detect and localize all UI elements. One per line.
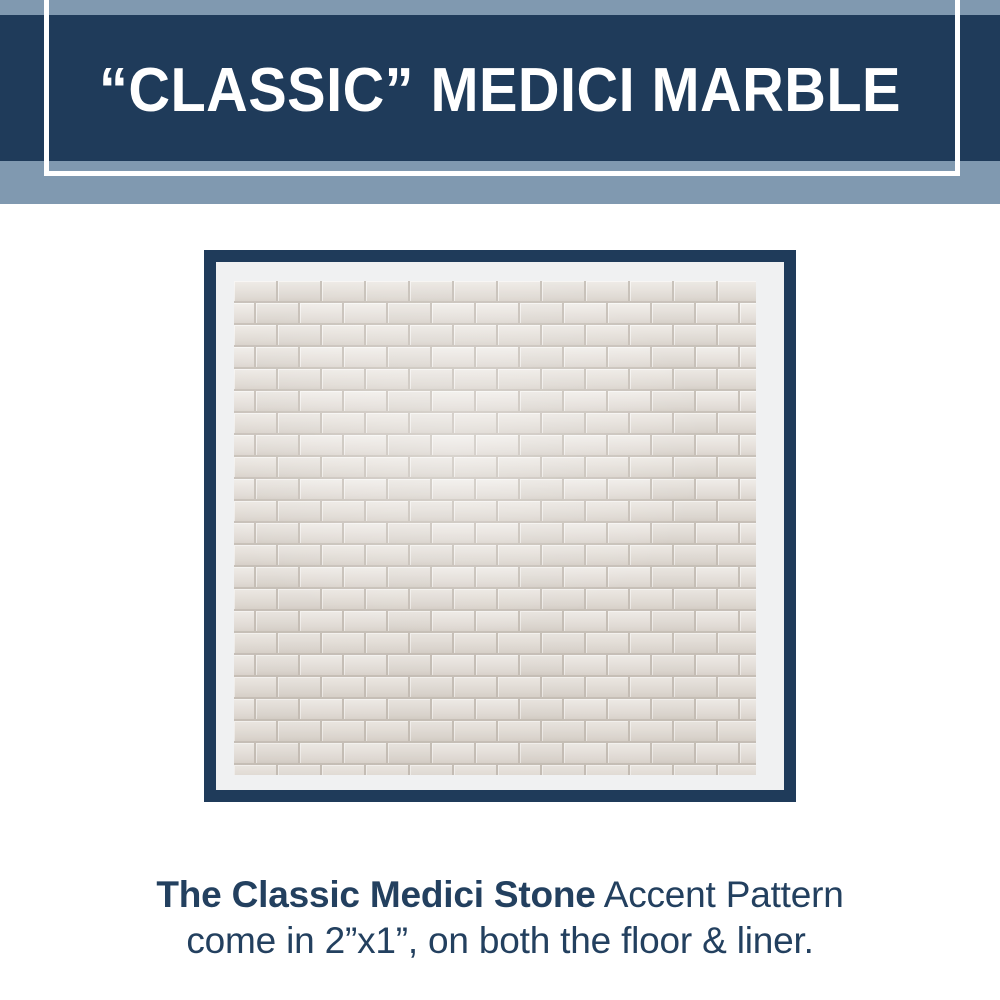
brick-tile: [410, 633, 454, 655]
brick-tile: [740, 479, 756, 501]
brick-tile: [234, 743, 256, 765]
brick-tile: [696, 743, 740, 765]
brick-tile: [740, 523, 756, 545]
brick-tile: [498, 545, 542, 567]
brick-tile: [718, 545, 756, 567]
brick-tile: [300, 479, 344, 501]
brick-tile: [454, 721, 498, 743]
brick-tile: [300, 523, 344, 545]
brick-tile: [564, 435, 608, 457]
brick-tile: [410, 545, 454, 567]
brick-tile: [388, 303, 432, 325]
brick-tile: [608, 655, 652, 677]
brick-tile: [454, 457, 498, 479]
brick-tile: [300, 391, 344, 413]
brick-tile: [740, 743, 756, 765]
brick-tile: [388, 567, 432, 589]
brick-tile: [564, 303, 608, 325]
brick-tile: [278, 369, 322, 391]
brick-tile: [278, 545, 322, 567]
brick-tile: [234, 391, 256, 413]
brick-tile: [432, 567, 476, 589]
brick-tile: [718, 633, 756, 655]
brick-tile: [366, 413, 410, 435]
brick-row: [234, 435, 756, 457]
brick-tile: [740, 567, 756, 589]
brick-tile: [586, 589, 630, 611]
brick-tile: [432, 523, 476, 545]
brick-tile: [696, 435, 740, 457]
brick-tile: [630, 765, 674, 775]
brick-tile: [366, 545, 410, 567]
brick-tile: [432, 611, 476, 633]
brick-tile: [652, 611, 696, 633]
brick-tile: [256, 567, 300, 589]
brick-tile: [740, 699, 756, 721]
brick-tile: [542, 281, 586, 303]
brick-tile: [740, 655, 756, 677]
brick-tile: [234, 413, 278, 435]
brick-tile: [256, 611, 300, 633]
brick-tile: [234, 677, 278, 699]
brick-tile: [630, 325, 674, 347]
brick-tile: [696, 479, 740, 501]
brick-tile: [234, 347, 256, 369]
brick-tile: [542, 545, 586, 567]
brick-tile: [432, 391, 476, 413]
brick-tile: [718, 457, 756, 479]
caption-line-1-bold: The Classic Medici Stone: [156, 874, 595, 915]
brick-tile: [278, 413, 322, 435]
brick-tile: [564, 743, 608, 765]
brick-tile: [278, 677, 322, 699]
brick-tile: [476, 479, 520, 501]
brick-row: [234, 589, 756, 611]
brick-tile: [454, 545, 498, 567]
brick-tile: [234, 611, 256, 633]
caption-line-1: The Classic Medici Stone Accent Pattern: [60, 872, 940, 918]
brick-tile: [366, 633, 410, 655]
brick-tile: [674, 633, 718, 655]
brick-tile: [278, 281, 322, 303]
brick-tile: [674, 501, 718, 523]
brick-tile: [608, 699, 652, 721]
product-caption: The Classic Medici Stone Accent Pattern …: [60, 872, 940, 964]
brick-tile: [322, 281, 366, 303]
brick-tile: [718, 677, 756, 699]
brick-row: [234, 391, 756, 413]
brick-tile: [344, 567, 388, 589]
brick-tile: [234, 765, 278, 775]
brick-tile: [278, 589, 322, 611]
brick-tile: [652, 567, 696, 589]
brick-tile: [608, 479, 652, 501]
brick-tile: [234, 501, 278, 523]
brick-tile: [718, 721, 756, 743]
brick-tile: [608, 523, 652, 545]
brick-tile: [410, 281, 454, 303]
brick-tile: [322, 325, 366, 347]
brick-row: [234, 457, 756, 479]
brick-tile: [498, 765, 542, 775]
caption-line-2: come in 2”x1”, on both the floor & liner…: [60, 918, 940, 964]
brick-tile: [586, 765, 630, 775]
brick-tile: [388, 347, 432, 369]
brick-tile: [476, 391, 520, 413]
brick-tile: [652, 391, 696, 413]
brick-tile: [696, 567, 740, 589]
brick-tile: [630, 545, 674, 567]
page-title: “CLASSIC” MEDICI MARBLE: [91, 48, 909, 134]
brick-tile: [454, 765, 498, 775]
brick-tile: [674, 765, 718, 775]
brick-row: [234, 655, 756, 677]
brick-tile: [366, 721, 410, 743]
brick-tile: [256, 479, 300, 501]
brick-tile: [652, 655, 696, 677]
brick-row: [234, 721, 756, 743]
brick-tile: [432, 303, 476, 325]
brick-tile: [498, 633, 542, 655]
brick-tile: [586, 369, 630, 391]
brick-tile: [278, 457, 322, 479]
brick-tile: [520, 303, 564, 325]
brick-tile: [718, 589, 756, 611]
brick-tile: [388, 743, 432, 765]
brick-tile: [476, 743, 520, 765]
brick-tile: [696, 655, 740, 677]
brick-tile: [322, 501, 366, 523]
brick-tile: [696, 347, 740, 369]
brick-tile: [674, 281, 718, 303]
brick-tile: [234, 369, 278, 391]
brick-tile: [256, 523, 300, 545]
brick-tile: [498, 281, 542, 303]
brick-tile: [278, 501, 322, 523]
brick-tile: [630, 633, 674, 655]
product-image-frame: [204, 250, 796, 802]
brick-tile: [476, 655, 520, 677]
brick-tile: [718, 413, 756, 435]
brick-tile: [344, 699, 388, 721]
brick-tile: [234, 479, 256, 501]
brick-row: [234, 303, 756, 325]
brick-tile: [520, 611, 564, 633]
brick-tile: [234, 721, 278, 743]
brick-tile: [432, 435, 476, 457]
brick-tile: [630, 369, 674, 391]
brick-tile: [476, 347, 520, 369]
brick-tile: [564, 479, 608, 501]
brick-tile: [586, 281, 630, 303]
brick-tile: [586, 721, 630, 743]
brick-tile: [718, 281, 756, 303]
brick-tile: [410, 677, 454, 699]
brick-tile: [564, 567, 608, 589]
brick-tile: [520, 347, 564, 369]
brick-tile: [674, 677, 718, 699]
brick-tile: [300, 611, 344, 633]
brick-tile: [542, 721, 586, 743]
brick-row: [234, 369, 756, 391]
brick-tile: [322, 545, 366, 567]
brick-tile: [498, 721, 542, 743]
brick-tile: [256, 391, 300, 413]
brick-tile: [454, 413, 498, 435]
brick-row: [234, 545, 756, 567]
brick-tile: [278, 721, 322, 743]
brick-tile: [740, 435, 756, 457]
brick-tile: [300, 567, 344, 589]
brick-tile: [652, 743, 696, 765]
brick-tile: [476, 699, 520, 721]
brick-tile: [322, 633, 366, 655]
brick-tile: [542, 325, 586, 347]
brick-tile: [300, 303, 344, 325]
brick-row: [234, 677, 756, 699]
brick-tile: [674, 325, 718, 347]
brick-tile: [630, 457, 674, 479]
brick-tile: [586, 457, 630, 479]
brick-tile: [410, 765, 454, 775]
brick-tile: [344, 611, 388, 633]
brick-tile: [234, 655, 256, 677]
brick-tile: [652, 435, 696, 457]
brick-tile: [718, 369, 756, 391]
brick-tile: [696, 391, 740, 413]
brick-tile: [454, 633, 498, 655]
brick-tile: [542, 589, 586, 611]
brick-tile: [322, 589, 366, 611]
brick-tile: [344, 655, 388, 677]
brick-tile: [630, 413, 674, 435]
brick-tile: [630, 721, 674, 743]
brick-tile: [256, 743, 300, 765]
brick-tile: [410, 501, 454, 523]
slide-root: “CLASSIC” MEDICI MARBLE The Classic Medi…: [0, 0, 1000, 1000]
brick-tile: [696, 699, 740, 721]
brick-tile: [674, 457, 718, 479]
brick-tile: [608, 347, 652, 369]
brick-tile: [630, 589, 674, 611]
brick-tile: [234, 523, 256, 545]
brick-tile: [476, 567, 520, 589]
brick-tile: [542, 677, 586, 699]
brick-tile: [476, 435, 520, 457]
brick-row: [234, 611, 756, 633]
brick-tile: [520, 743, 564, 765]
brick-row: [234, 743, 756, 765]
brick-tile: [674, 369, 718, 391]
brick-tile: [344, 479, 388, 501]
brick-tile: [432, 655, 476, 677]
brick-tile: [256, 303, 300, 325]
brick-tile: [366, 325, 410, 347]
brick-tile: [256, 435, 300, 457]
brick-tile: [608, 567, 652, 589]
brick-tile: [630, 281, 674, 303]
brick-tile: [234, 567, 256, 589]
brick-tile: [586, 677, 630, 699]
brick-tile: [630, 677, 674, 699]
brick-row: [234, 699, 756, 721]
brick-tile: [476, 303, 520, 325]
brick-tile: [300, 347, 344, 369]
brick-tile: [432, 699, 476, 721]
brick-tile: [234, 699, 256, 721]
brick-row: [234, 523, 756, 545]
brick-tile: [476, 523, 520, 545]
brick-tile: [454, 589, 498, 611]
brick-tile: [520, 391, 564, 413]
brick-tile: [718, 765, 756, 775]
brick-row: [234, 633, 756, 655]
brick-tile: [410, 413, 454, 435]
brick-tile: [520, 435, 564, 457]
brick-tile: [432, 347, 476, 369]
brick-tile: [608, 435, 652, 457]
brick-tile: [322, 677, 366, 699]
brick-tile: [234, 281, 278, 303]
brick-tile: [344, 435, 388, 457]
brick-tile: [454, 677, 498, 699]
brick-tile: [520, 479, 564, 501]
brick-tile: [300, 743, 344, 765]
brick-tile: [608, 391, 652, 413]
brick-tile: [718, 325, 756, 347]
brick-tile: [696, 523, 740, 545]
brick-tile: [454, 369, 498, 391]
brick-tile: [366, 369, 410, 391]
brick-tile: [234, 457, 278, 479]
brick-tile: [498, 369, 542, 391]
brick-tile: [740, 391, 756, 413]
tile-pattern-swatch: [234, 281, 756, 775]
brick-tile: [366, 765, 410, 775]
brick-tile: [652, 303, 696, 325]
brick-tile: [322, 457, 366, 479]
brick-tile: [322, 413, 366, 435]
brick-tile: [344, 347, 388, 369]
brick-row: [234, 325, 756, 347]
brick-tile: [542, 501, 586, 523]
brick-tile: [564, 391, 608, 413]
brick-tile: [740, 611, 756, 633]
brick-tile: [542, 633, 586, 655]
brick-row: [234, 765, 756, 775]
brick-tile: [498, 325, 542, 347]
brick-tile: [432, 479, 476, 501]
brick-tile: [586, 325, 630, 347]
brick-tile: [388, 391, 432, 413]
brick-tile: [410, 457, 454, 479]
brick-tile: [674, 721, 718, 743]
brick-tile: [256, 699, 300, 721]
brick-row: [234, 501, 756, 523]
brick-tile: [454, 281, 498, 303]
brick-tile: [234, 325, 278, 347]
brick-tile: [388, 479, 432, 501]
brick-tile: [542, 413, 586, 435]
brick-tile: [674, 589, 718, 611]
brick-tile: [366, 677, 410, 699]
brick-row: [234, 567, 756, 589]
brick-tile: [388, 655, 432, 677]
brick-row: [234, 413, 756, 435]
brick-tile: [498, 589, 542, 611]
brick-tile: [498, 677, 542, 699]
brick-tile: [454, 501, 498, 523]
brick-tile: [388, 523, 432, 545]
brick-tile: [344, 523, 388, 545]
brick-tile: [410, 589, 454, 611]
brick-tile: [652, 523, 696, 545]
brick-tile: [498, 501, 542, 523]
brick-tile: [718, 501, 756, 523]
brick-tile: [366, 501, 410, 523]
brick-tile: [454, 325, 498, 347]
brick-tile: [300, 655, 344, 677]
brick-tile: [564, 655, 608, 677]
brick-row: [234, 479, 756, 501]
brick-tile: [608, 611, 652, 633]
brick-tile: [234, 589, 278, 611]
brick-tile: [542, 369, 586, 391]
brick-tile: [696, 611, 740, 633]
brick-tile: [564, 611, 608, 633]
brick-tile: [674, 413, 718, 435]
brick-tile: [410, 325, 454, 347]
brick-tile: [278, 765, 322, 775]
brick-tile: [234, 633, 278, 655]
brick-tile: [586, 545, 630, 567]
brick-tile: [586, 413, 630, 435]
brick-tile: [410, 721, 454, 743]
brick-tile: [322, 765, 366, 775]
brick-tile: [542, 765, 586, 775]
brick-row: [234, 347, 756, 369]
product-image-mat: [216, 262, 784, 790]
brick-tile: [608, 303, 652, 325]
brick-tile: [278, 325, 322, 347]
brick-tile: [586, 633, 630, 655]
brick-tile: [344, 391, 388, 413]
brick-tile: [564, 523, 608, 545]
brick-tile: [300, 699, 344, 721]
brick-tile: [520, 655, 564, 677]
brick-tile: [696, 303, 740, 325]
brick-tile: [300, 435, 344, 457]
brick-tile: [388, 435, 432, 457]
brick-tile: [608, 743, 652, 765]
brick-tile: [278, 633, 322, 655]
brick-tile: [366, 589, 410, 611]
brick-tile: [674, 545, 718, 567]
brick-tile: [630, 501, 674, 523]
brick-tile: [388, 611, 432, 633]
header-banner: “CLASSIC” MEDICI MARBLE: [0, 0, 1000, 204]
brick-tile: [740, 303, 756, 325]
brick-tile: [234, 303, 256, 325]
brick-tile: [256, 347, 300, 369]
brick-tile: [498, 413, 542, 435]
brick-tile: [586, 501, 630, 523]
brick-tile: [256, 655, 300, 677]
brick-tile: [234, 545, 278, 567]
brick-tile: [652, 347, 696, 369]
brick-tile: [410, 369, 454, 391]
brick-tile: [520, 523, 564, 545]
